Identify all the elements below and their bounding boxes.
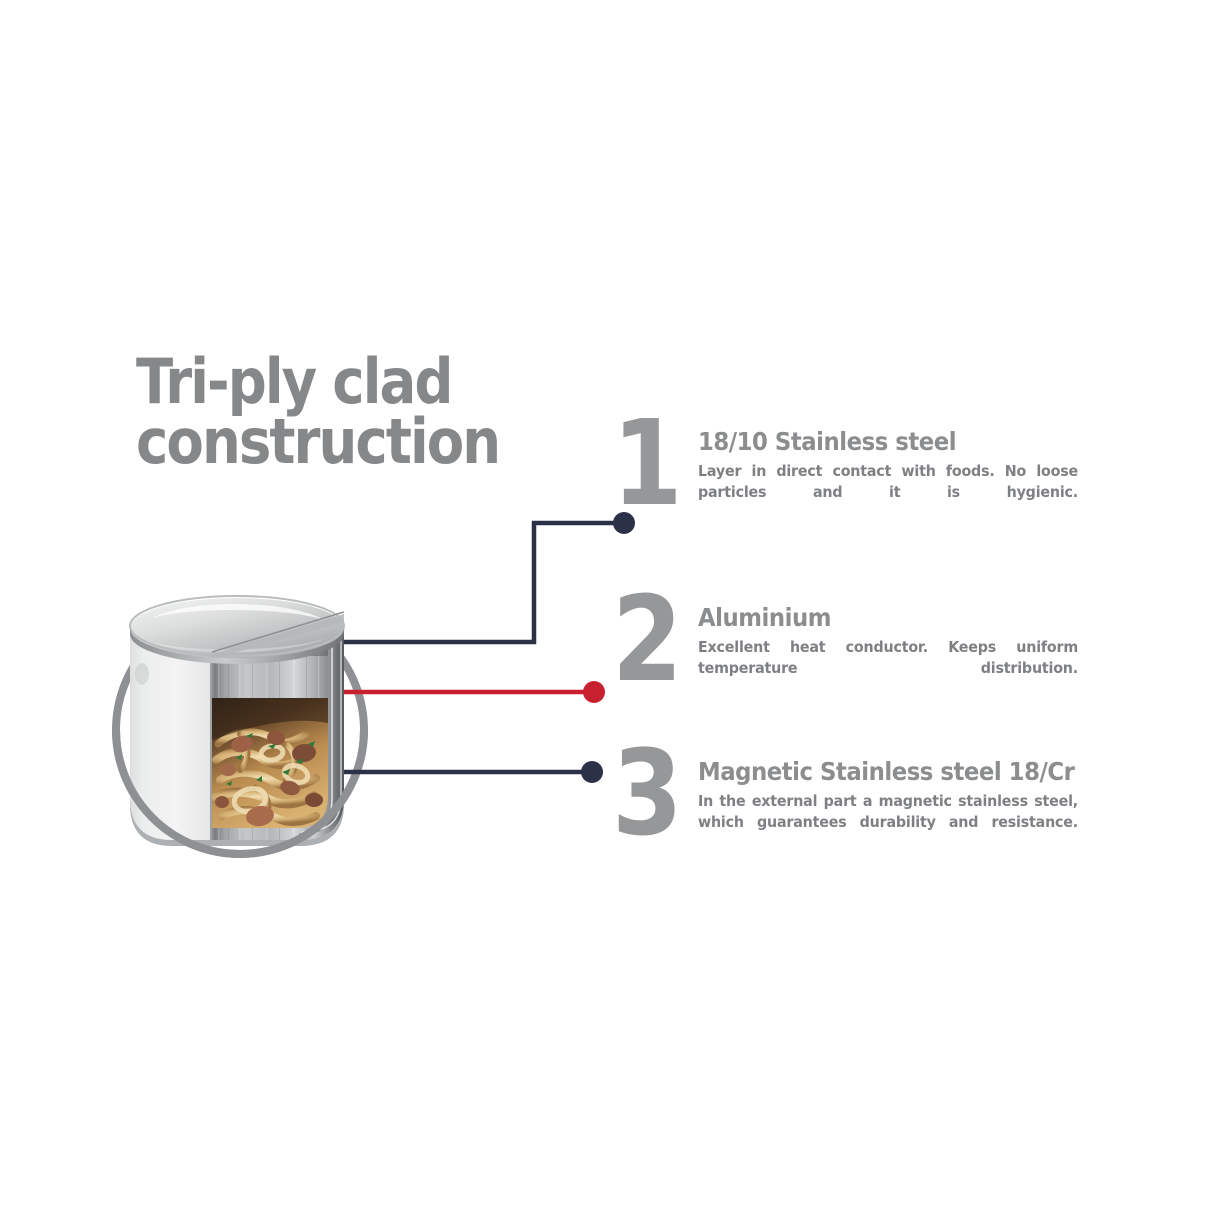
layer-text-1: 18/10 Stainless steel Layer in direct co… bbox=[698, 412, 1080, 524]
pasta-contents bbox=[212, 698, 332, 833]
layer-heading-1: 18/10 Stainless steel bbox=[698, 428, 1053, 455]
layer-body-1: Layer in direct contact with foods. No l… bbox=[698, 461, 1078, 523]
pot-lid bbox=[130, 596, 344, 664]
layer-heading-3: Magnetic Stainless steel 18/Cr bbox=[698, 758, 1053, 785]
layer-number-1: 1 bbox=[612, 412, 686, 516]
layer-body-3: In the external part a magnetic stainles… bbox=[698, 791, 1078, 853]
page-title: Tri-ply clad construction bbox=[136, 352, 550, 472]
connector-dot-2 bbox=[583, 681, 605, 703]
layer-number-3: 3 bbox=[612, 742, 686, 846]
layer-text-3: Magnetic Stainless steel 18/Cr In the ex… bbox=[698, 742, 1080, 854]
layer-item-3: 3 Magnetic Stainless steel 18/Cr In the … bbox=[612, 742, 1080, 854]
cutaway-saucepan-illustration bbox=[100, 548, 400, 908]
layer-item-2: 2 Aluminium Excellent heat conductor. Ke… bbox=[612, 588, 1080, 700]
layer-number-2: 2 bbox=[612, 588, 686, 692]
layer-body-2: Excellent heat conductor. Keeps uniform … bbox=[698, 637, 1078, 699]
layer-text-2: Aluminium Excellent heat conductor. Keep… bbox=[698, 588, 1080, 700]
layer-heading-2: Aluminium bbox=[698, 604, 1053, 631]
connector-dot-3 bbox=[581, 761, 603, 783]
layer-item-1: 1 18/10 Stainless steel Layer in direct … bbox=[612, 412, 1080, 524]
infographic-page: Tri-ply clad construction bbox=[0, 0, 1214, 1215]
